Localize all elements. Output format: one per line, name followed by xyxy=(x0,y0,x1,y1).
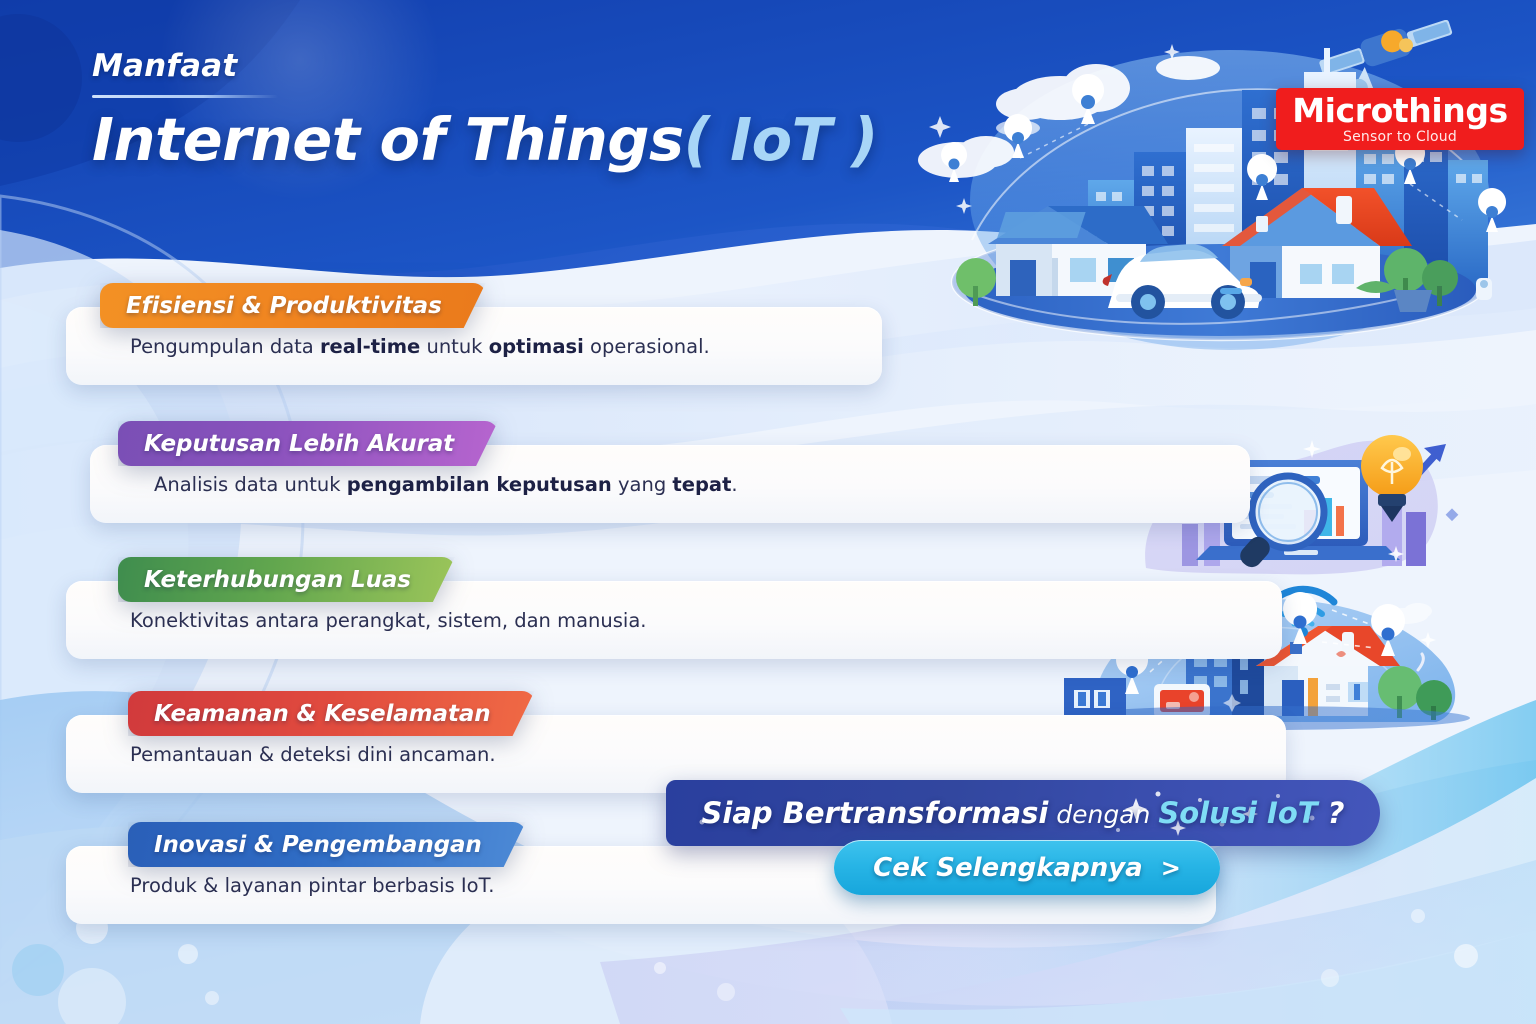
cek-selengkapnya-button[interactable]: Cek Selengkapnya > xyxy=(834,840,1220,895)
cta-headline-lead: Siap Bertransformasi xyxy=(702,796,1049,830)
page-title: Internet of Things( IoT ) xyxy=(92,108,872,172)
benefit-description: Pengumpulan data real-time untuk optimas… xyxy=(130,335,710,358)
benefit-description: Analisis data untuk pengambilan keputusa… xyxy=(154,473,738,496)
brand-tagline: Sensor to Cloud xyxy=(1343,130,1457,144)
page-title-accent: ( IoT ) xyxy=(684,105,878,174)
cta-headline: Siap Bertransformasi dengan Solusi IoT ? xyxy=(702,796,1345,830)
cta-section: Siap Bertransformasi dengan Solusi IoT ?… xyxy=(666,780,1380,900)
brand-logo[interactable]: Microthings Sensor to Cloud xyxy=(1276,88,1524,150)
cta-button-label: Cek Selengkapnya xyxy=(873,853,1143,883)
smart-city-hero-illustration xyxy=(900,20,1536,350)
cta-headline-end: ? xyxy=(1318,796,1345,830)
infographic-canvas: Manfaat Internet of Things( IoT ) Microt… xyxy=(0,0,1536,1024)
kicker-label: Manfaat xyxy=(92,48,237,93)
benefit-tab-label[interactable]: Efisiensi & Produktivitas xyxy=(100,283,486,328)
cta-headline-accent: Solusi IoT xyxy=(1158,796,1317,830)
cta-headline-mid: dengan xyxy=(1048,800,1158,829)
brand-name: Microthings xyxy=(1292,94,1508,127)
chevron-right-icon: > xyxy=(1161,854,1181,882)
cta-button-holder: Cek Selengkapnya > xyxy=(834,840,1220,895)
cta-panel: Siap Bertransformasi dengan Solusi IoT ? xyxy=(666,780,1380,846)
benefit-description: Pemantauan & deteksi dini ancaman. xyxy=(130,743,496,766)
benefit-description: Produk & layanan pintar berbasis IoT. xyxy=(130,874,494,897)
page-title-main: Internet of Things xyxy=(92,105,684,174)
page-header: Manfaat Internet of Things( IoT ) xyxy=(92,48,872,172)
benefit-tab-label[interactable]: Inovasi & Pengembangan xyxy=(128,822,526,867)
benefit-tab-label[interactable]: Keamanan & Keselamatan xyxy=(128,691,535,736)
benefit-tab-label[interactable]: Keterhubungan Luas xyxy=(118,557,455,602)
benefit-tab-label[interactable]: Keputusan Lebih Akurat xyxy=(118,421,498,466)
benefit-description: Konektivitas antara perangkat, sistem, d… xyxy=(130,609,647,632)
kicker-underline xyxy=(92,95,278,98)
